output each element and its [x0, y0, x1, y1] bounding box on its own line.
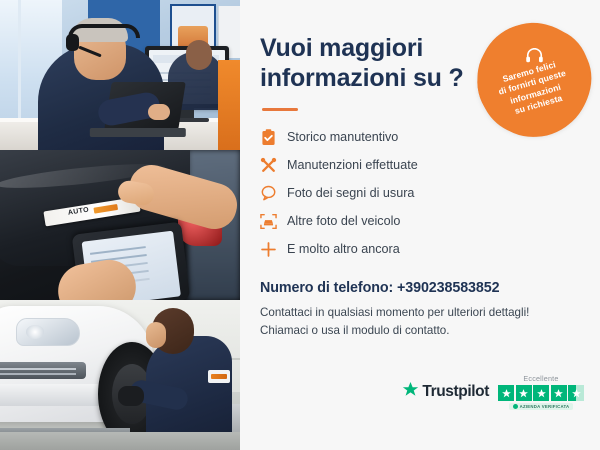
- callout-badge: Saremo felici di fornirti queste informa…: [478, 24, 590, 136]
- contact-subtext-line-1: Contattaci in qualsiasi momento per ulte…: [260, 304, 578, 322]
- rating-star-partial: [568, 385, 584, 401]
- phone-label: Numero di telefono:: [260, 280, 397, 296]
- trustpilot-stars: [498, 385, 584, 401]
- list-item-label: Altre foto del veicolo: [287, 214, 400, 228]
- list-item-label: Manutenzioni effettuate: [287, 158, 418, 172]
- list-item: Foto dei segni di usura: [260, 180, 578, 206]
- list-item-label: Foto dei segni di usura: [287, 186, 414, 200]
- rating-star: [551, 385, 567, 401]
- advertisement-banner: Vuoi maggiori informazioni su ? Saremo f…: [0, 0, 600, 450]
- mechanic-wheel-service-photo: [0, 300, 240, 450]
- trustpilot-star-icon: [402, 381, 419, 403]
- car-grille: [0, 362, 86, 379]
- content-panel: Vuoi maggiori informazioni su ? Saremo f…: [240, 0, 600, 450]
- mechanic-glove: [118, 386, 144, 406]
- list-item: Altre foto del veicolo: [260, 208, 578, 234]
- clipboard-check-icon: [260, 129, 277, 146]
- tablet-vehicle-inspection-photo: [0, 150, 240, 300]
- call-center-agent-photo: [0, 0, 240, 150]
- mechanic-uniform-logo: [208, 370, 230, 383]
- verified-business-label: AZIENDA VERIFICATA: [520, 404, 570, 409]
- background-colleague-head: [186, 40, 212, 70]
- page-title: Vuoi maggiori informazioni su ?: [260, 34, 470, 93]
- trustpilot-widget[interactable]: Trustpilot Eccellente: [402, 374, 584, 410]
- feature-list: Storico manutentivo Manutenzioni effettu…: [260, 124, 578, 262]
- magnifier-icon: [260, 185, 277, 202]
- tools-cross-icon: [260, 157, 277, 174]
- garage-floor: [0, 432, 240, 450]
- contact-subtext-line-2: Chiamaci o usa il modulo di contatto.: [260, 322, 578, 340]
- list-item: E molto altro ancora: [260, 236, 578, 262]
- contact-subtext: Contattaci in qualsiasi momento per ulte…: [260, 304, 578, 340]
- rating-star: [498, 385, 514, 401]
- list-item-label: Storico manutentivo: [287, 130, 398, 144]
- title-divider: [262, 108, 298, 111]
- phone-number[interactable]: +390238583852: [397, 280, 499, 296]
- rating-star: [533, 385, 549, 401]
- badge-text: Saremo felici di fornirti queste informa…: [484, 55, 585, 124]
- plus-icon: [260, 241, 277, 258]
- agent-hand: [148, 104, 170, 120]
- rating-star: [516, 385, 532, 401]
- orange-pillar: [218, 60, 240, 150]
- trustpilot-logo: Trustpilot: [402, 381, 489, 403]
- phone-line: Numero di telefono: +390238583852: [260, 280, 578, 296]
- car-headlight: [16, 318, 80, 346]
- headset-band: [68, 24, 140, 38]
- list-item: Manutenzioni effettuate: [260, 152, 578, 178]
- photo-column: [0, 0, 240, 450]
- car-scan-frame-icon: [260, 213, 277, 230]
- mechanic-face: [146, 322, 166, 348]
- trustpilot-name: Trustpilot: [422, 383, 489, 401]
- verified-business-badge: AZIENDA VERIFICATA: [509, 403, 574, 410]
- car-bumper: [0, 384, 110, 406]
- trustpilot-rating: Eccellente: [498, 374, 584, 410]
- headset-earcup: [66, 34, 79, 51]
- list-item-label: E molto altro ancora: [287, 242, 400, 256]
- trustpilot-rating-label: Eccellente: [523, 374, 558, 383]
- verified-check-icon: [513, 404, 518, 409]
- badge-content: Saremo felici di fornirti queste informa…: [478, 24, 590, 136]
